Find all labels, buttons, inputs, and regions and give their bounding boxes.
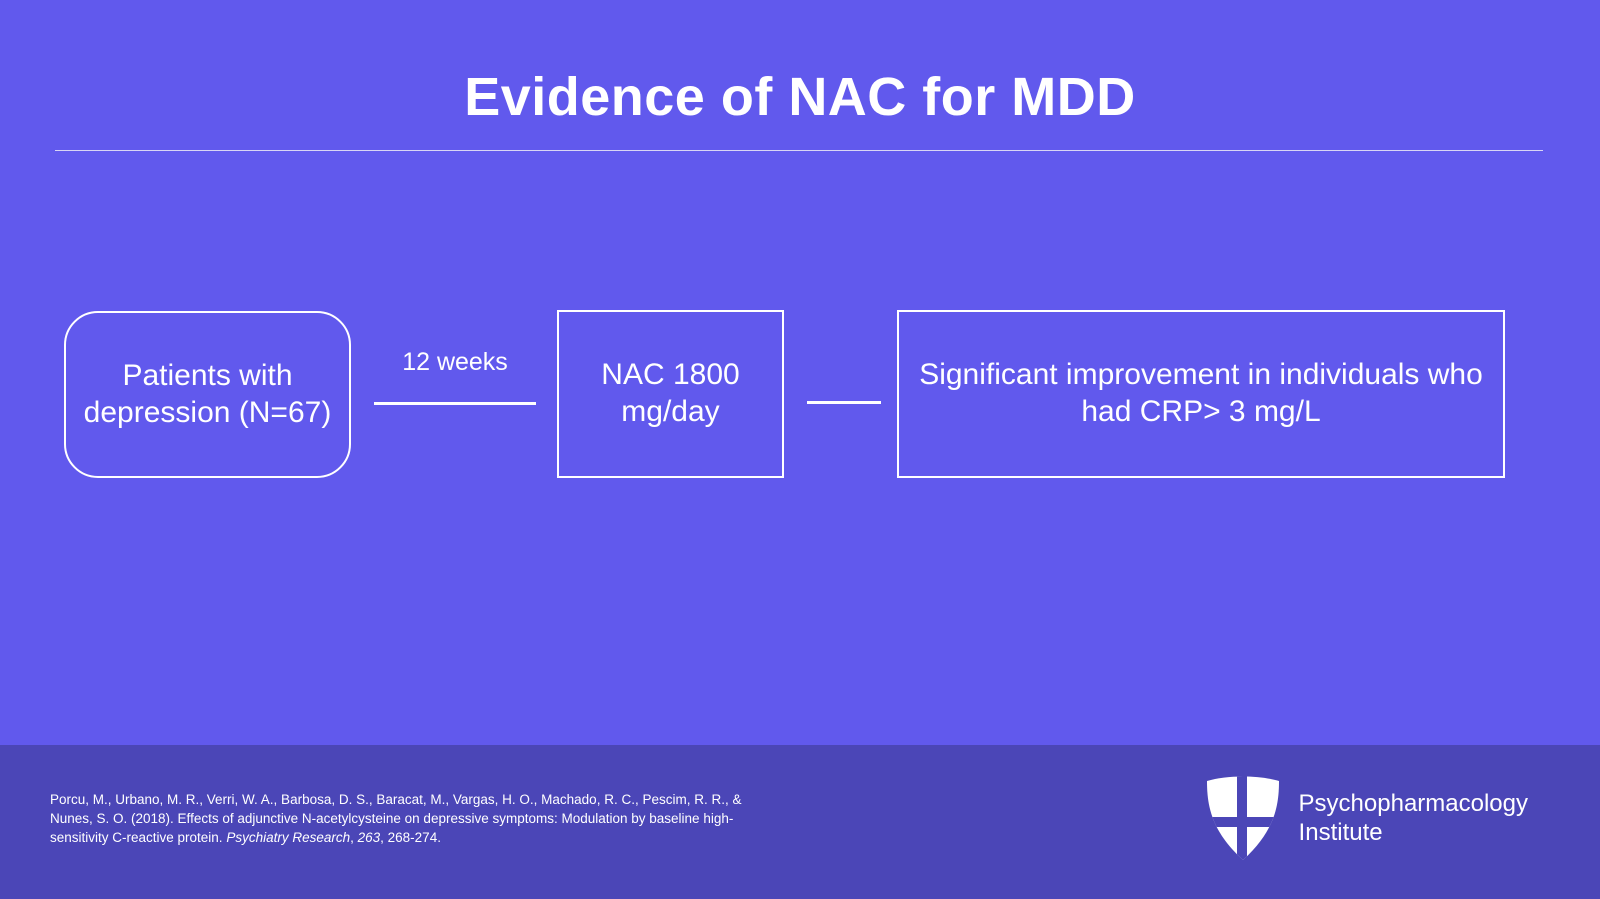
citation-line-3-prefix: sensitivity C-reactive protein. xyxy=(50,830,226,845)
citation-line-1: Porcu, M., Urbano, M. R., Verri, W. A., … xyxy=(50,792,741,807)
flow-node-nac-dose: NAC 1800 mg/day xyxy=(557,310,784,478)
flow-node-patients: Patients with depression (N=67) xyxy=(64,311,351,478)
flow-node-outcome-label: Significant improvement in individuals w… xyxy=(899,357,1503,430)
citation-journal-name: Psychiatry Research xyxy=(226,830,350,845)
flow-connector-patients-to-nac xyxy=(374,402,536,405)
shield-icon xyxy=(1205,775,1281,861)
citation-separator: , xyxy=(350,830,358,845)
footer-bar: Porcu, M., Urbano, M. R., Verri, W. A., … xyxy=(0,745,1600,899)
flow-node-patients-label: Patients with depression (N=67) xyxy=(66,358,349,431)
brand-name-line-2: Institute xyxy=(1299,818,1528,847)
flow-connector-label-12-weeks: 12 weeks xyxy=(374,348,536,377)
flow-node-nac-dose-label: NAC 1800 mg/day xyxy=(559,357,782,430)
citation-volume: 263 xyxy=(358,830,381,845)
brand-name: Psychopharmacology Institute xyxy=(1299,789,1528,848)
citation-pages: , 268-274. xyxy=(380,830,441,845)
citation-reference: Porcu, M., Urbano, M. R., Verri, W. A., … xyxy=(50,790,840,847)
flow-connector-nac-to-outcome xyxy=(807,401,881,404)
brand-logo-group: Psychopharmacology Institute xyxy=(1205,775,1528,861)
flow-node-outcome: Significant improvement in individuals w… xyxy=(897,310,1505,478)
citation-line-2: Nunes, S. O. (2018). Effects of adjuncti… xyxy=(50,811,733,826)
slide: Evidence of NAC for MDD Patients with de… xyxy=(0,0,1600,899)
brand-name-line-1: Psychopharmacology xyxy=(1299,789,1528,818)
